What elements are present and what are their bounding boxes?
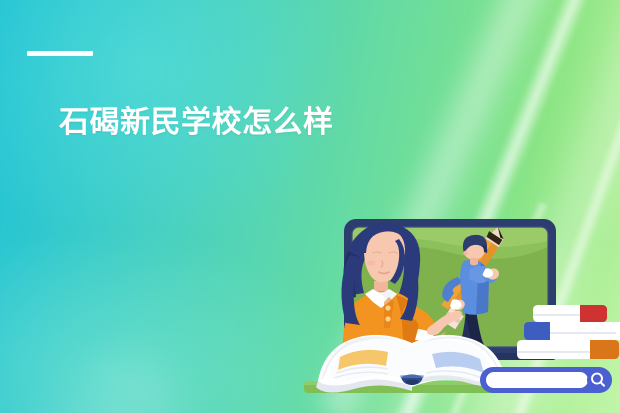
list-item — [517, 340, 619, 359]
banner-card: 石碣新民学校怎么样 — [0, 0, 620, 413]
search-input[interactable] — [486, 372, 588, 388]
list-item — [524, 322, 620, 340]
search-icon[interactable] — [587, 369, 609, 391]
page-title: 石碣新民学校怎么样 — [59, 104, 334, 142]
open-book-icon — [316, 335, 506, 393]
search-bar[interactable] — [480, 367, 612, 393]
list-item — [533, 305, 607, 322]
hero-illustration — [300, 195, 620, 413]
accent-rule — [27, 51, 93, 56]
background-glow-bottom-left — [0, 227, 341, 413]
